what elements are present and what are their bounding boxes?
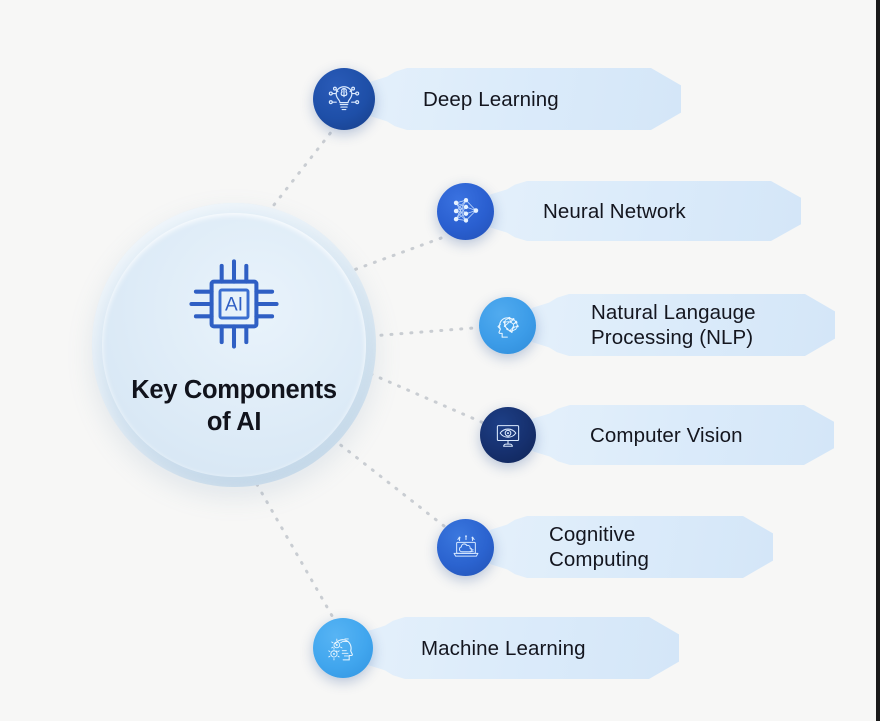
machine-learning-label: Machine Learning xyxy=(421,636,586,661)
hub-circle: AI xyxy=(92,203,376,487)
node-computer-vision[interactable]: Computer Vision xyxy=(480,405,834,465)
cognitive-computing-label-line1: Cognitive xyxy=(549,523,635,546)
deep-learning-icon-circle[interactable] xyxy=(313,68,375,130)
laptop-cloud-icon xyxy=(449,530,483,564)
deep-learning-label: Deep Learning xyxy=(423,87,559,112)
hub-title-line1: Key Components xyxy=(131,374,337,406)
cognitive-computing-label-line2: Computing xyxy=(549,548,649,571)
diagram-canvas: AI xyxy=(0,0,880,721)
cognitive-computing-icon-circle[interactable] xyxy=(437,519,494,576)
head-gears-icon xyxy=(324,629,362,667)
hub-title-line2: of AI xyxy=(131,406,337,438)
nlp-icon-circle[interactable] xyxy=(479,297,536,354)
computer-vision-label: Computer Vision xyxy=(590,423,743,448)
neural-network-pill[interactable]: Neural Network xyxy=(481,181,801,241)
computer-vision-pill[interactable]: Computer Vision xyxy=(524,405,834,465)
connector-cognitive-computing xyxy=(333,439,444,526)
node-neural-network[interactable]: Neural Network xyxy=(437,181,801,241)
lightbulb-brain-icon xyxy=(324,79,364,119)
deep-learning-pill[interactable]: Deep Learning xyxy=(361,68,681,130)
nlp-label-line1: Natural Langauge xyxy=(591,301,756,324)
head-neural-icon xyxy=(490,307,526,343)
connector-machine-learning xyxy=(247,467,335,621)
hub-title: Key Components of AI xyxy=(131,374,337,438)
node-natural-language-processing[interactable]: Natural Langauge Processing (NLP) xyxy=(479,294,835,356)
node-cognitive-computing[interactable]: Cognitive Computing xyxy=(437,516,773,578)
node-machine-learning[interactable]: Machine Learning xyxy=(313,617,679,679)
connector-nlp xyxy=(371,327,486,336)
nlp-pill[interactable]: Natural Langauge Processing (NLP) xyxy=(523,294,835,356)
ai-chip-icon: AI xyxy=(178,248,290,360)
neural-network-icon xyxy=(448,193,484,229)
machine-learning-icon-circle[interactable] xyxy=(313,618,373,678)
machine-learning-pill[interactable]: Machine Learning xyxy=(359,617,679,679)
cognitive-computing-label: Cognitive Computing xyxy=(549,522,649,572)
connector-computer-vision xyxy=(371,374,486,424)
monitor-eye-icon xyxy=(491,418,525,452)
cognitive-computing-pill[interactable]: Cognitive Computing xyxy=(481,516,773,578)
svg-text:AI: AI xyxy=(225,295,243,316)
nlp-label: Natural Langauge Processing (NLP) xyxy=(591,300,756,350)
computer-vision-icon-circle[interactable] xyxy=(480,407,536,463)
neural-network-icon-circle[interactable] xyxy=(437,183,494,240)
neural-network-label: Neural Network xyxy=(543,199,686,224)
nlp-label-line2: Processing (NLP) xyxy=(591,326,753,349)
node-deep-learning[interactable]: Deep Learning xyxy=(313,68,681,130)
